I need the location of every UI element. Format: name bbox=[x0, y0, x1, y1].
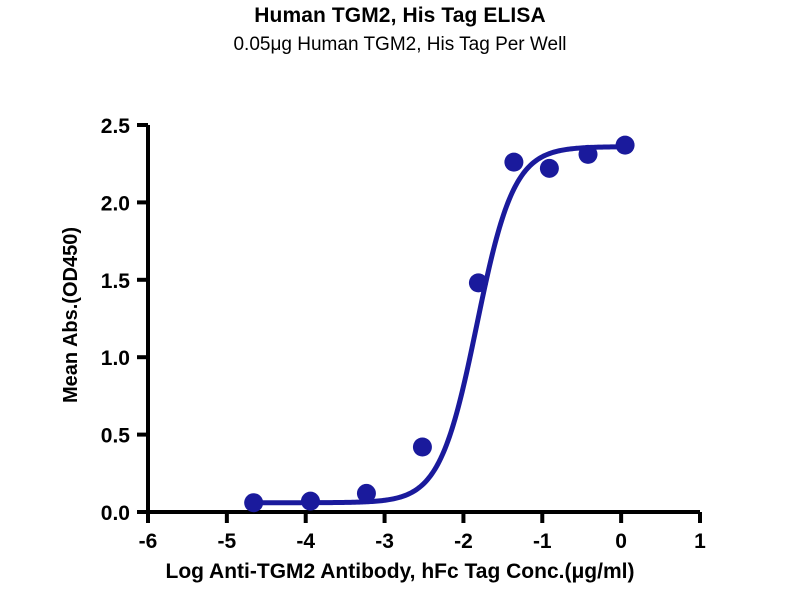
y-tick-label: 0.0 bbox=[101, 502, 130, 525]
y-tick-label: 2.0 bbox=[101, 192, 130, 215]
data-point bbox=[540, 159, 559, 178]
x-tick-label: -5 bbox=[218, 530, 237, 553]
data-point bbox=[413, 437, 432, 456]
x-tick-label: 1 bbox=[694, 530, 706, 553]
y-tick-label: 1.0 bbox=[101, 347, 130, 370]
y-tick-label: 2.5 bbox=[101, 115, 131, 138]
sigmoid-fit-curve bbox=[254, 147, 625, 503]
data-point bbox=[357, 484, 376, 503]
data-point bbox=[244, 493, 263, 512]
data-point bbox=[504, 153, 523, 172]
x-tick-label: -1 bbox=[533, 530, 552, 553]
elisa-chart-figure: Human TGM2, His Tag ELISA 0.05μg Human T… bbox=[0, 0, 800, 600]
x-tick-label: 0 bbox=[615, 530, 627, 553]
plot-area: -6-5-4-3-2-1010.00.51.01.52.02.5 bbox=[0, 0, 800, 600]
y-tick-label: 1.5 bbox=[101, 270, 131, 293]
axis-tick-labels: -6-5-4-3-2-1010.00.51.01.52.02.5 bbox=[101, 115, 706, 553]
x-tick-label: -2 bbox=[454, 530, 473, 553]
data-point bbox=[579, 145, 598, 164]
data-point bbox=[469, 273, 488, 292]
x-tick-label: -3 bbox=[375, 530, 394, 553]
x-tick-label: -6 bbox=[139, 530, 158, 553]
data-point bbox=[616, 136, 635, 155]
y-tick-label: 0.5 bbox=[101, 425, 131, 448]
axis-ticks bbox=[137, 125, 700, 523]
data-point bbox=[301, 492, 320, 511]
x-tick-label: -4 bbox=[296, 530, 315, 553]
